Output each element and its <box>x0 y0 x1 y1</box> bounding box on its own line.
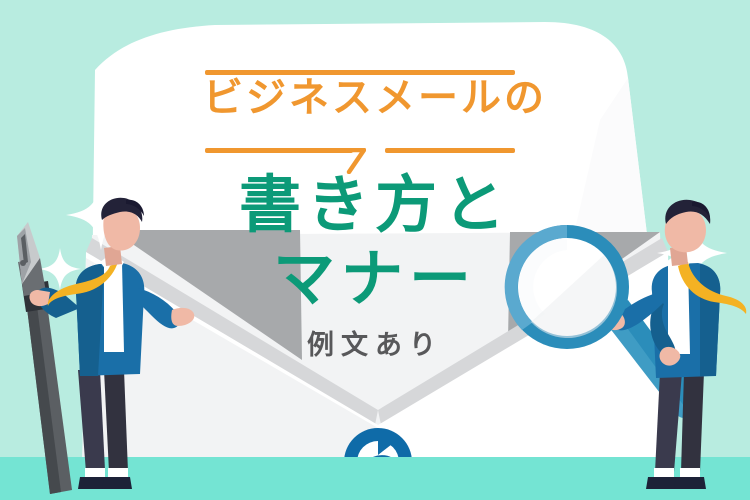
right-person-shoe-front <box>674 477 706 489</box>
banner-image: ビジネスメールの 書き方と マナー 例文あり <box>0 0 750 500</box>
left-person-hand-on-pen <box>29 290 50 306</box>
illustration-canvas <box>0 0 750 500</box>
left-person-shoe-front <box>102 477 132 489</box>
magnifying-glass-lens <box>505 225 629 349</box>
right-person-shoe-back <box>646 477 678 489</box>
right-person-leg-front <box>681 372 704 472</box>
